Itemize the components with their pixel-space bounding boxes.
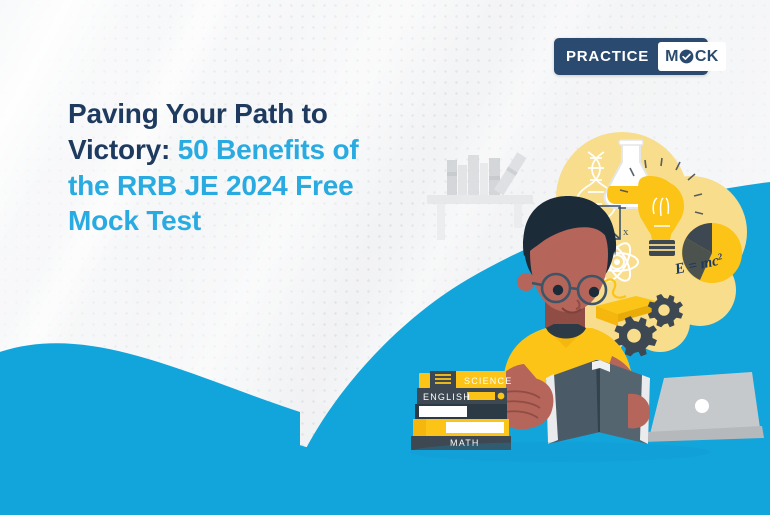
logo-mock-text: M CK	[665, 49, 719, 65]
practicemock-logo[interactable]: PRACTICE M CK	[554, 38, 708, 75]
headline-line-3: the RRB JE 2024 Free	[68, 170, 353, 201]
logo-mock-box: M CK	[658, 42, 726, 71]
headline-line-2-dark: Victory:	[68, 134, 178, 165]
page-title: Paving Your Path to Victory: 50 Benefits…	[68, 96, 418, 239]
blue-wave-shape	[0, 0, 770, 515]
logo-mock-text-after: CK	[695, 49, 719, 65]
check-circle-icon	[679, 49, 694, 64]
headline-line-4: Mock Test	[68, 205, 201, 236]
blog-banner: x	[0, 0, 770, 515]
headline-line-2-accent: 50 Benefits of	[178, 134, 359, 165]
headline-line-1: Paving Your Path to	[68, 98, 328, 129]
logo-practice-text: PRACTICE	[558, 49, 658, 64]
logo-mock-text-before: M	[665, 49, 679, 65]
